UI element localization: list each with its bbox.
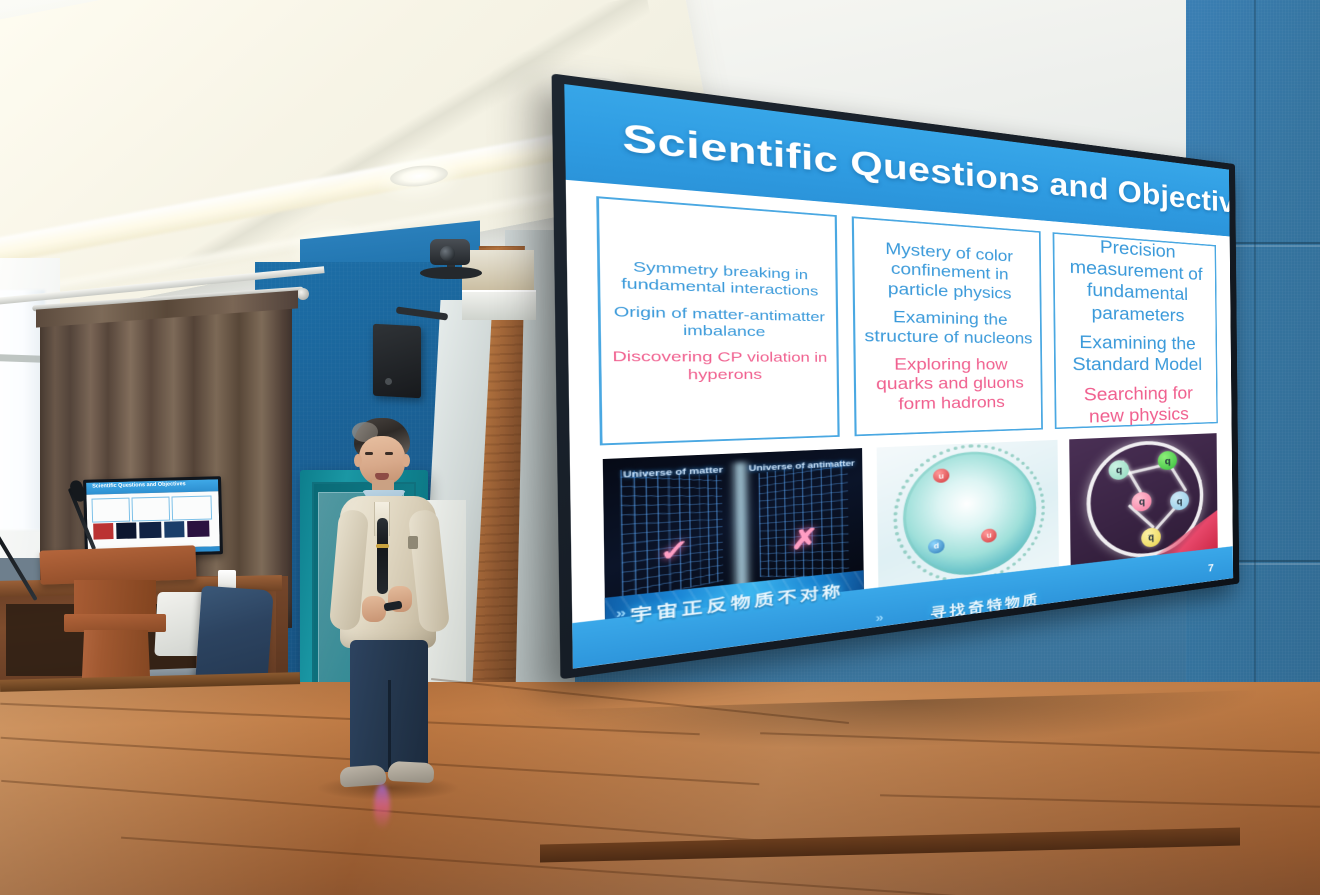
lectern-top bbox=[39, 545, 196, 584]
objective-line-highlight: Exploring how quarks and gluons form had… bbox=[864, 355, 1035, 415]
quark-label: q bbox=[1139, 496, 1145, 508]
objective-box-3: Precision measurement of fundamental par… bbox=[1053, 232, 1218, 429]
column-bracket bbox=[462, 290, 536, 320]
objective-line: Symmetry breaking in fundamental interac… bbox=[611, 258, 827, 301]
presenter bbox=[322, 418, 452, 788]
antiquark-label: q̅ bbox=[1148, 531, 1154, 543]
antimatter-grid-icon bbox=[759, 459, 849, 577]
wall-speaker-icon bbox=[373, 324, 421, 399]
confidence-monitor: Scientific Questions and Objectives bbox=[83, 476, 223, 558]
lectern-flare bbox=[64, 614, 166, 632]
objective-line: Precision measurement of fundamental par… bbox=[1061, 233, 1210, 327]
slide-page-number: 7 bbox=[1208, 562, 1214, 575]
slide-surface: Scientific Questions and Objectives Symm… bbox=[564, 84, 1233, 669]
quark-label: u bbox=[987, 531, 992, 540]
presenter-badge bbox=[408, 536, 418, 549]
speaker-driver-icon bbox=[385, 378, 392, 385]
handheld-microphone-icon bbox=[377, 518, 388, 594]
quark-label: u bbox=[938, 472, 943, 481]
display-bezel: Scientific Questions and Objectives Symm… bbox=[552, 73, 1240, 679]
cross-icon: ✗ bbox=[790, 523, 818, 556]
objective-box-2: Mystery of color confinement in particle… bbox=[851, 216, 1043, 436]
quark-label: q bbox=[1177, 495, 1183, 506]
objective-line-highlight: Searching for new physics bbox=[1063, 382, 1211, 428]
lecture-room-photo: Scientific Questions and Objectives bbox=[0, 0, 1320, 895]
camera-lens-icon bbox=[440, 246, 455, 261]
camera-mount-plate bbox=[420, 267, 482, 279]
central-flash bbox=[730, 462, 752, 602]
chevron-right-icon: » bbox=[982, 630, 989, 644]
curtain-rod-finial bbox=[297, 288, 309, 300]
objective-line: Mystery of color confinement in particle… bbox=[862, 238, 1033, 304]
check-icon: ✓ bbox=[658, 533, 690, 569]
objective-line: Examining the structure of nucleons bbox=[863, 307, 1034, 349]
slide-body: Symmetry breaking in fundamental interac… bbox=[566, 180, 1233, 623]
nucleon-ring-icon bbox=[892, 441, 1046, 591]
presentation-display: Scientific Questions and Objectives Symm… bbox=[556, 74, 1256, 694]
floor-light-reflection bbox=[374, 784, 390, 830]
quark-label: q bbox=[1116, 464, 1122, 476]
objective-line-highlight: Discovering CP violation in hyperons bbox=[612, 349, 828, 385]
presenter-hand bbox=[362, 596, 386, 622]
objective-line: Examining the Standard Model bbox=[1062, 331, 1210, 376]
presenter-shoe bbox=[388, 761, 435, 783]
quark-label: q bbox=[1165, 455, 1171, 466]
objective-line: Origin of matter-antimatter imbalance bbox=[611, 303, 827, 342]
objective-columns: Symmetry breaking in fundamental interac… bbox=[596, 196, 1218, 445]
quark-label: d bbox=[934, 542, 939, 551]
presenter-mouth bbox=[375, 473, 389, 480]
objective-box-1: Symmetry breaking in fundamental interac… bbox=[596, 196, 839, 445]
